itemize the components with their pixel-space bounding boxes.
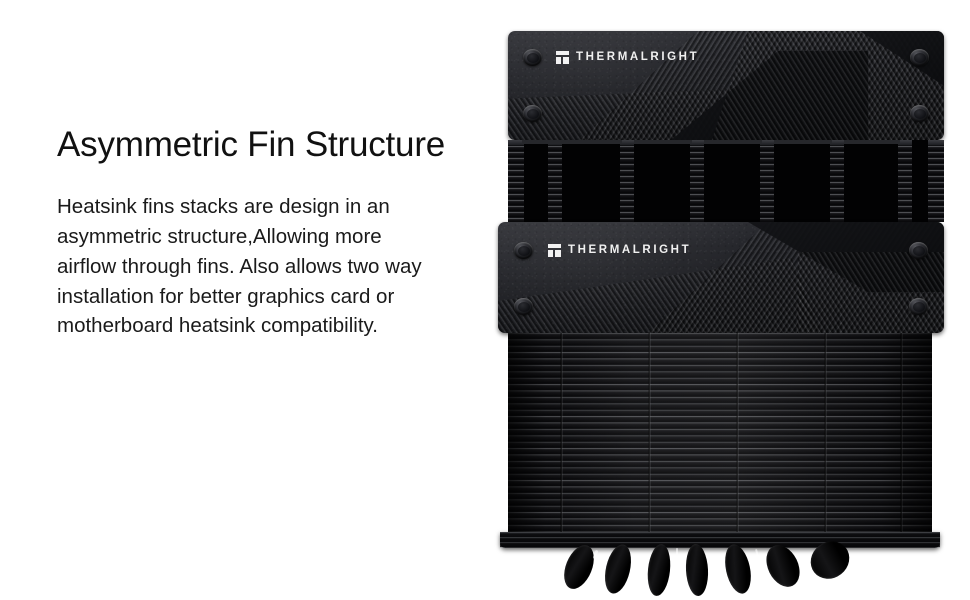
fin-rail (774, 140, 832, 144)
cap-facet-left-diagonal (498, 258, 822, 333)
fin-column (620, 140, 634, 222)
fin-column-seams (508, 333, 932, 535)
heatpipe (721, 542, 755, 596)
fin-column (898, 140, 912, 222)
thermalright-logo-mark-icon (556, 51, 569, 64)
fin-rail (522, 140, 622, 144)
fin-column (928, 140, 944, 222)
heatpipe-highlight (593, 550, 599, 559)
fin-column (508, 140, 524, 222)
heatpipe (685, 543, 710, 596)
cap-facet-shadow-band (748, 222, 944, 292)
fin-rail (634, 140, 692, 144)
brand-wordmark: THERMALRIGHT (568, 245, 691, 257)
thermalright-logo-mark-icon (548, 244, 561, 257)
fin-rail (704, 140, 762, 144)
screw-boss-bottom-right (910, 105, 929, 122)
cap-facet-right-diagonal (648, 222, 944, 333)
fin-edges (508, 333, 932, 535)
screw-boss-bottom-left (514, 298, 533, 315)
cap-texture (498, 222, 944, 333)
body-paragraph: Heatsink fins stacks are design in an as… (57, 192, 427, 342)
screw-boss-bottom-left (523, 105, 542, 122)
cap-facet-right (708, 31, 944, 140)
fin-shading (508, 333, 932, 535)
lower-tower-fin-stack (508, 333, 932, 535)
heatpipe (803, 534, 857, 587)
heatpipe (760, 540, 806, 593)
brand-lockup-upper: THERMALRIGHT (556, 51, 699, 64)
cap-facet-corner-shadow (860, 31, 944, 93)
screw-boss-top-right (909, 242, 928, 259)
fin-column (760, 140, 774, 222)
text-panel: Asymmetric Fin Structure Heatsink fins s… (57, 126, 457, 341)
heatpipe (601, 542, 636, 596)
screw-boss-bottom-right (909, 298, 928, 315)
heatpipe-highlight (676, 548, 678, 555)
page-title: Asymmetric Fin Structure (57, 126, 457, 164)
cap-facet-lower-left (508, 89, 758, 140)
brand-wordmark: THERMALRIGHT (576, 52, 699, 64)
cap-texture (508, 31, 944, 140)
upper-tower-fin-stack (508, 140, 944, 222)
fin-column (548, 140, 562, 222)
screw-boss-top-left (523, 49, 542, 66)
screw-boss-top-left (514, 242, 533, 259)
cap-facet-main-diagonal (568, 31, 944, 140)
heatpipe (645, 543, 672, 597)
brand-lockup-lower: THERMALRIGHT (548, 244, 691, 257)
heatpipe-group (560, 544, 890, 600)
heatpipe (558, 541, 599, 593)
fin-column (830, 140, 844, 222)
heatpipe-highlight (755, 549, 759, 557)
fin-base-plate (500, 532, 940, 548)
fin-column (690, 140, 704, 222)
cap-facet-shadow-wedge (658, 51, 868, 140)
fin-rail (844, 140, 900, 144)
upper-tower-top-cap: THERMALRIGHT (508, 31, 944, 140)
lower-tower-top-cap: THERMALRIGHT (498, 222, 944, 333)
screw-boss-top-right (910, 49, 929, 66)
cap-facet-corner-ridges (798, 252, 944, 333)
